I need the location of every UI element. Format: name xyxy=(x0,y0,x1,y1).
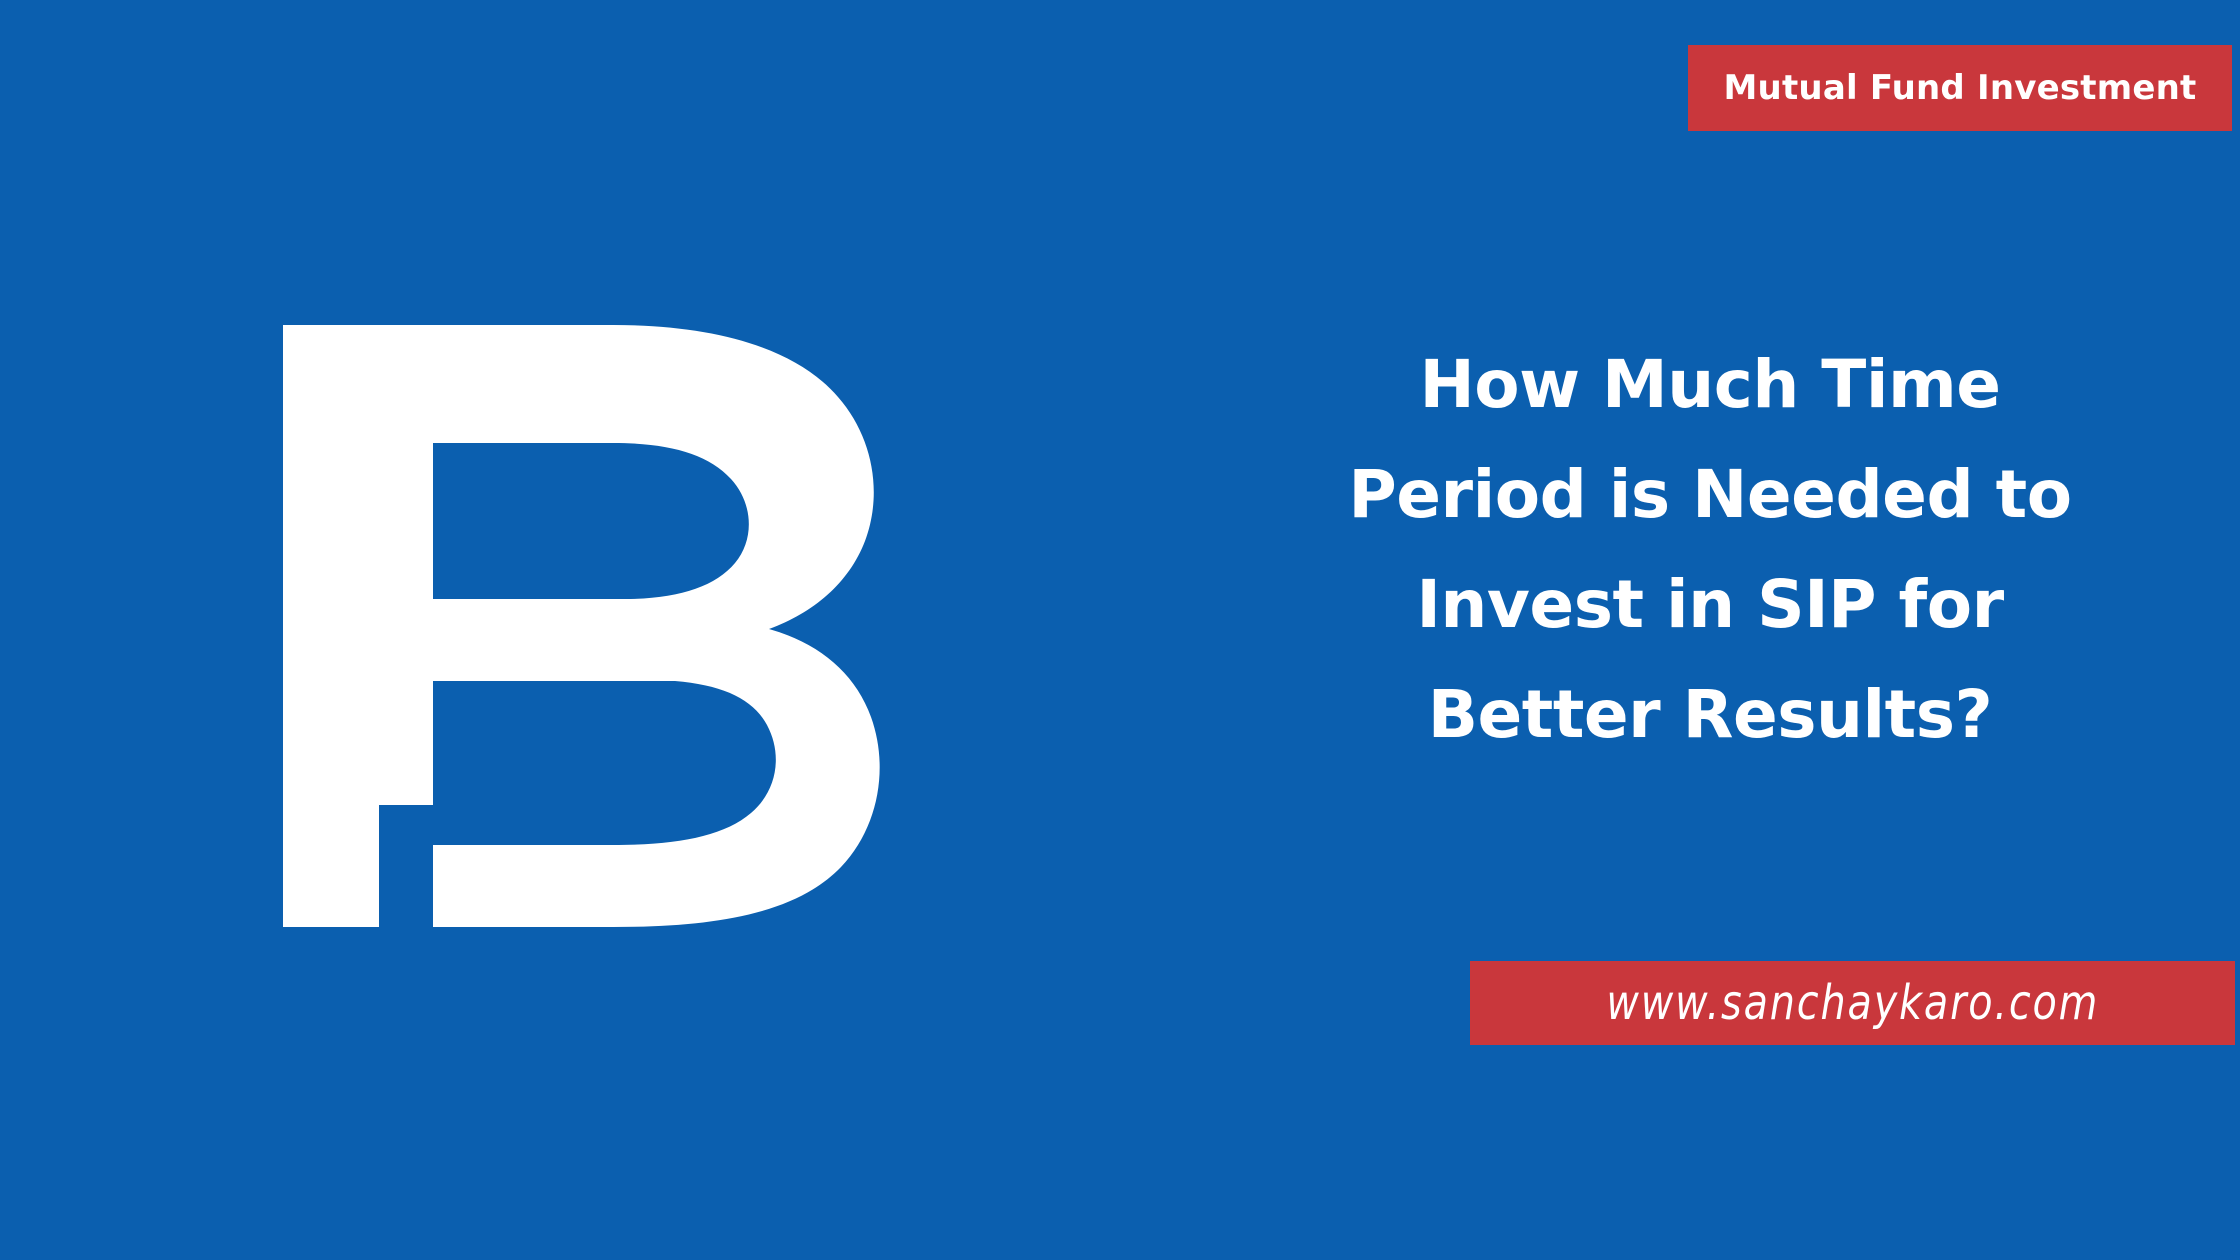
headline-line-4: Better Results? xyxy=(1280,660,2140,770)
poster-canvas: Mutual Fund Investment How Much Time Per… xyxy=(0,0,2240,1260)
headline-line-1: How Much Time xyxy=(1280,330,2140,440)
website-url-badge[interactable]: www.sanchaykaro.com xyxy=(1470,961,2235,1045)
headline-line-2: Period is Needed to xyxy=(1280,440,2140,550)
category-badge[interactable]: Mutual Fund Investment xyxy=(1688,45,2232,131)
category-badge-label: Mutual Fund Investment xyxy=(1724,71,2197,105)
website-url-label: www.sanchaykaro.com xyxy=(1606,979,2099,1027)
brand-logo-icon xyxy=(283,325,883,927)
page-title: How Much Time Period is Needed to Invest… xyxy=(1280,330,2140,770)
headline-line-3: Invest in SIP for xyxy=(1280,550,2140,660)
